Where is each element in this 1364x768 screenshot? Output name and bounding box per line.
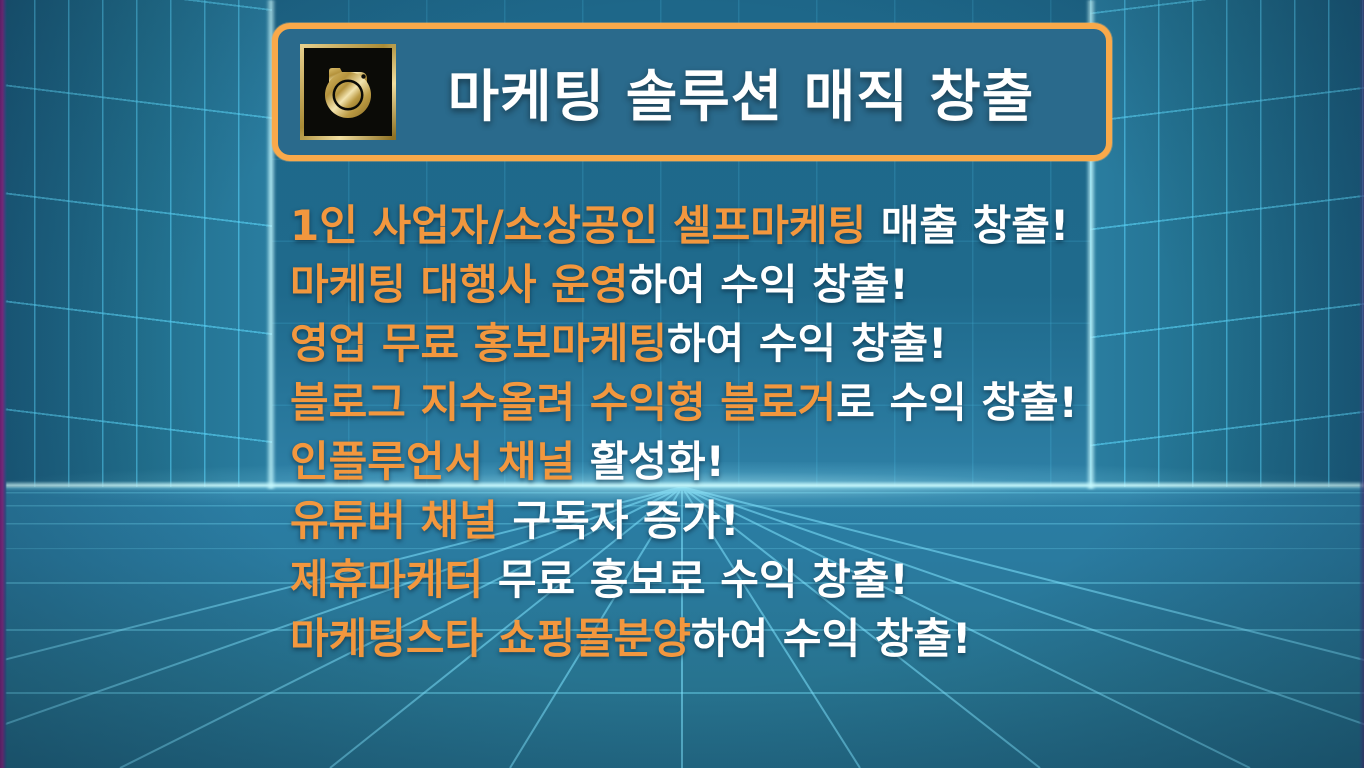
page-title: 마케팅 솔루션 매직 창출 (396, 52, 1106, 133)
list-item-highlight: 1인 사업자/소상공인 셀프마케팅 (290, 201, 866, 250)
list-item-plain: 무료 홍보로 수익 창출! (483, 555, 908, 604)
list-item: 제휴마케터 무료 홍보로 수익 창출! (290, 550, 1290, 609)
list-item-plain: 로 수익 창출! (836, 378, 1078, 427)
list-item: 유튜버 채널 구독자 증가! (290, 491, 1290, 550)
list-item-highlight: 제휴마케터 (290, 555, 483, 604)
list-item: 마케팅스타 쇼핑몰분양하여 수익 창출! (290, 609, 1290, 668)
list-item: 영업 무료 홍보마케팅하여 수익 창출! (290, 314, 1290, 373)
list-item-highlight: 마케팅스타 쇼핑몰분양 (290, 614, 691, 663)
promo-slide: 마케팅 솔루션 매직 창출 1인 사업자/소상공인 셀프마케팅 매출 창출! 마… (0, 0, 1364, 768)
list-item: 인플루언서 채널 활성화! (290, 432, 1290, 491)
benefit-list: 1인 사업자/소상공인 셀프마케팅 매출 창출! 마케팅 대행사 운영하여 수익… (290, 196, 1290, 668)
list-item-plain: 활성화! (575, 437, 725, 486)
list-item-plain: 하여 수익 창출! (691, 614, 971, 663)
list-item-plain: 하여 수익 창출! (628, 260, 908, 309)
left-edge-magenta-rim (0, 0, 7, 768)
list-item-plain: 하여 수익 창출! (667, 319, 947, 368)
list-item-plain: 구독자 증가! (498, 496, 740, 545)
list-item-highlight: 유튜버 채널 (290, 496, 498, 545)
list-item: 1인 사업자/소상공인 셀프마케팅 매출 창출! (290, 196, 1290, 255)
right-edge-rim (1359, 0, 1364, 768)
list-item-highlight: 마케팅 대행사 운영 (290, 260, 628, 309)
list-item-highlight: 인플루언서 채널 (290, 437, 575, 486)
list-item-highlight: 블로그 지수올려 수익형 블로거 (290, 378, 836, 427)
list-item: 블로그 지수올려 수익형 블로거로 수익 창출! (290, 373, 1290, 432)
gold-camera-emblem-icon (300, 44, 396, 140)
list-item: 마케팅 대행사 운영하여 수익 창출! (290, 255, 1290, 314)
title-bar: 마케팅 솔루션 매직 창출 (272, 23, 1112, 161)
list-item-plain: 매출 창출! (866, 201, 1069, 250)
list-item-highlight: 영업 무료 홍보마케팅 (290, 319, 667, 368)
